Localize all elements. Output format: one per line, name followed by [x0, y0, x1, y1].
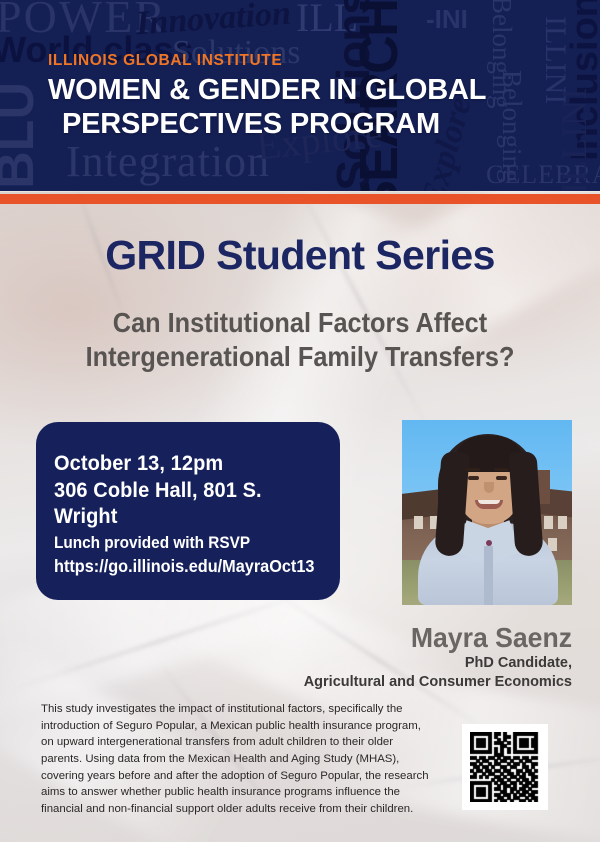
orange-divider-rule — [0, 194, 600, 204]
photo-window — [544, 516, 553, 529]
speaker-role-line1: PhD Candidate, — [260, 654, 572, 673]
header-banner: POWER Innovation ILL -INI World class So… — [0, 0, 600, 191]
series-title: GRID Student Series — [0, 232, 600, 279]
event-lunch-note: Lunch provided with RSVP — [54, 532, 309, 554]
event-location: 306 Coble Hall, 801 S. Wright — [54, 477, 309, 530]
photo-eyebrow-left — [466, 468, 480, 471]
abstract-text: This study investigates the impact of in… — [41, 701, 436, 817]
photo-window — [558, 516, 567, 529]
qr-code[interactable] — [462, 724, 548, 810]
talk-title-line1: Can Institutional Factors Affect — [52, 306, 549, 340]
speaker-name: Mayra Saenz — [314, 622, 572, 654]
qr-code-canvas[interactable] — [470, 732, 540, 802]
wordcloud-term: -INI — [426, 6, 468, 32]
speaker-photo — [402, 420, 572, 605]
event-datetime: October 13, 12pm — [54, 450, 309, 477]
header-text-block: ILLINOIS GLOBAL INSTITUTE WOMEN & GENDER… — [48, 52, 486, 141]
photo-shirt-placket — [484, 546, 493, 605]
photo-teeth — [478, 500, 500, 504]
poster-root: POWER Innovation ILL -INI World class So… — [0, 0, 600, 842]
program-title-line2: PERSPECTIVES PROGRAM — [62, 108, 486, 142]
talk-title-line2: Intergenerational Family Transfers? — [52, 340, 549, 374]
speaker-role-line2: Agricultural and Consumer Economics — [260, 673, 572, 692]
program-title-line1: WOMEN & GENDER IN GLOBAL — [48, 74, 486, 108]
photo-necklace — [486, 540, 492, 546]
talk-title: Can Institutional Factors Affect Interge… — [52, 306, 549, 373]
wordcloud-term: Integration — [66, 140, 270, 184]
wordcloud-term: BLU — [0, 82, 42, 189]
photo-eye-right — [496, 476, 507, 480]
event-details-box: October 13, 12pm 306 Coble Hall, 801 S. … — [36, 422, 340, 600]
photo-eye-left — [468, 476, 479, 480]
rsvp-link[interactable]: https://go.illinois.edu/MayraOct13 — [54, 555, 309, 578]
photo-nose — [484, 482, 494, 493]
wordcloud-term: ILLINI — [556, 88, 592, 191]
photo-window — [414, 516, 423, 529]
speaker-role: PhD Candidate, Agricultural and Consumer… — [260, 654, 572, 692]
institute-kicker: ILLINOIS GLOBAL INSTITUTE — [48, 52, 486, 70]
photo-eyebrow-right — [494, 468, 508, 471]
event-details-text: October 13, 12pm 306 Coble Hall, 801 S. … — [54, 450, 309, 578]
